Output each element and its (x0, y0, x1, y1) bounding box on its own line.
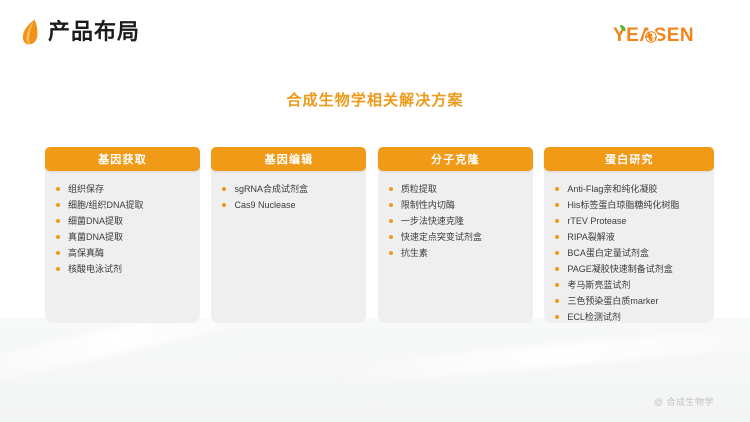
solution-card-gene-editing[interactable]: 基因编辑 sgRNA合成试剂盒 Cas9 Nuclease (211, 147, 357, 323)
bullet-dot-icon (555, 187, 559, 191)
list-item[interactable]: Anti-Flag亲和纯化凝胶 (554, 181, 716, 197)
list-item[interactable]: 三色预染蛋白质marker (554, 293, 716, 309)
card-title: 基因编辑 (265, 151, 314, 167)
bullet-dot-icon (56, 203, 60, 207)
bullet-dot-icon (555, 315, 559, 319)
main-title: 合成生物学相关解决方案 (0, 89, 750, 110)
list-item[interactable]: 核酸电泳试剂 (55, 261, 200, 277)
list-item[interactable]: 细菌DNA提取 (55, 213, 200, 229)
page-title: 产品布局 (48, 19, 140, 45)
bullet-dot-icon (555, 267, 559, 271)
list-item[interactable]: 快速定点突变试剂盒 (388, 229, 533, 245)
bullet-dot-icon (56, 251, 60, 255)
list-item-label: 三色预染蛋白质marker (567, 296, 658, 306)
list-item-label: 真菌DNA提取 (68, 232, 123, 242)
yeasen-logo: YEASEN (612, 22, 712, 48)
list-item[interactable]: 质粒提取 (388, 181, 533, 197)
list-item[interactable]: RIPA裂解液 (554, 229, 716, 245)
list-item-label: PAGE凝胶快速制备试剂盒 (567, 264, 672, 274)
list-item-label: BCA蛋白定量试剂盒 (567, 248, 649, 258)
list-item-label: 抗生素 (401, 248, 428, 258)
bullet-dot-icon (555, 283, 559, 287)
bullet-dot-icon (389, 187, 393, 191)
bullet-dot-icon (222, 203, 226, 207)
card-item-list: 组织保存 细胞/组织DNA提取 细菌DNA提取 真菌DNA提取 高保真酶 (55, 181, 200, 277)
bullet-dot-icon (555, 251, 559, 255)
bullet-dot-icon (555, 299, 559, 303)
list-item-label: sgRNA合成试剂盒 (234, 184, 308, 194)
solution-card-gene-acquisition[interactable]: 基因获取 组织保存 细胞/组织DNA提取 细菌DNA提取 真菌DNA提取 (45, 147, 191, 323)
bullet-dot-icon (222, 187, 226, 191)
solution-card-molecular-cloning[interactable]: 分子克隆 质粒提取 限制性内切酶 一步法快速克隆 快速定点突变试剂盒 (378, 147, 524, 323)
list-item-label: 细胞/组织DNA提取 (68, 200, 144, 210)
card-header[interactable]: 基因编辑 (211, 147, 366, 171)
bullet-dot-icon (555, 219, 559, 223)
card-title: 分子克隆 (431, 151, 480, 167)
bullet-dot-icon (555, 203, 559, 207)
list-item-label: 质粒提取 (401, 184, 437, 194)
solution-card-protein-research[interactable]: 蛋白研究 Anti-Flag亲和纯化凝胶 His标签蛋白琼脂糖纯化树脂 rTEV… (544, 147, 705, 323)
list-item-label: 组织保存 (68, 184, 104, 194)
slide-header: 产品布局 YEASEN (0, 0, 750, 66)
card-header[interactable]: 蛋白研究 (544, 147, 714, 171)
card-header[interactable]: 基因获取 (45, 147, 200, 171)
list-item[interactable]: 细胞/组织DNA提取 (55, 197, 200, 213)
list-item[interactable]: sgRNA合成试剂盒 (221, 181, 366, 197)
list-item[interactable]: 限制性内切酶 (388, 197, 533, 213)
list-item-label: Anti-Flag亲和纯化凝胶 (567, 184, 657, 194)
card-title: 蛋白研究 (605, 151, 654, 167)
leaf-flame-icon (22, 19, 40, 45)
slide-canvas: 产品布局 YEASEN 合成生物学相关解决方案 基因获取 组织保存 (0, 0, 750, 422)
bullet-dot-icon (389, 251, 393, 255)
bullet-dot-icon (389, 219, 393, 223)
card-title: 基因获取 (98, 151, 147, 167)
bullet-dot-icon (555, 235, 559, 239)
card-item-list: Anti-Flag亲和纯化凝胶 His标签蛋白琼脂糖纯化树脂 rTEV Prot… (554, 181, 716, 325)
list-item-label: 限制性内切酶 (401, 200, 455, 210)
bullet-dot-icon (56, 219, 60, 223)
brand-title-group: 产品布局 (22, 19, 140, 45)
list-item[interactable]: 一步法快速克隆 (388, 213, 533, 229)
list-item-label: 快速定点突变试剂盒 (401, 232, 482, 242)
list-item-label: Cas9 Nuclease (234, 200, 295, 210)
bullet-dot-icon (56, 187, 60, 191)
list-item[interactable]: 高保真酶 (55, 245, 200, 261)
list-item[interactable]: PAGE凝胶快速制备试剂盒 (554, 261, 716, 277)
list-item[interactable]: Cas9 Nuclease (221, 197, 366, 213)
list-item[interactable]: His标签蛋白琼脂糖纯化树脂 (554, 197, 716, 213)
card-item-list: sgRNA合成试剂盒 Cas9 Nuclease (221, 181, 366, 213)
list-item-label: 考马斯亮蓝试剂 (567, 280, 630, 290)
solution-card-grid: 基因获取 组织保存 细胞/组织DNA提取 细菌DNA提取 真菌DNA提取 (45, 147, 705, 323)
list-item[interactable]: ECL检测试剂 (554, 309, 716, 325)
bullet-dot-icon (56, 267, 60, 271)
list-item[interactable]: 组织保存 (55, 181, 200, 197)
list-item-label: 核酸电泳试剂 (68, 264, 122, 274)
list-item-label: His标签蛋白琼脂糖纯化树脂 (567, 200, 679, 210)
list-item[interactable]: 考马斯亮蓝试剂 (554, 277, 716, 293)
watermark-text: @ 合成生物学 (654, 395, 714, 408)
card-header[interactable]: 分子克隆 (378, 147, 533, 171)
list-item-label: 一步法快速克隆 (401, 216, 464, 226)
bullet-dot-icon (389, 235, 393, 239)
list-item-label: 细菌DNA提取 (68, 216, 123, 226)
list-item[interactable]: 真菌DNA提取 (55, 229, 200, 245)
list-item[interactable]: BCA蛋白定量试剂盒 (554, 245, 716, 261)
card-item-list: 质粒提取 限制性内切酶 一步法快速克隆 快速定点突变试剂盒 抗生素 (388, 181, 533, 261)
list-item-label: RIPA裂解液 (567, 232, 614, 242)
list-item-label: 高保真酶 (68, 248, 104, 258)
bullet-dot-icon (389, 203, 393, 207)
list-item-label: rTEV Protease (567, 216, 626, 226)
list-item[interactable]: 抗生素 (388, 245, 533, 261)
bullet-dot-icon (56, 235, 60, 239)
list-item-label: ECL检测试剂 (567, 312, 621, 322)
list-item[interactable]: rTEV Protease (554, 213, 716, 229)
